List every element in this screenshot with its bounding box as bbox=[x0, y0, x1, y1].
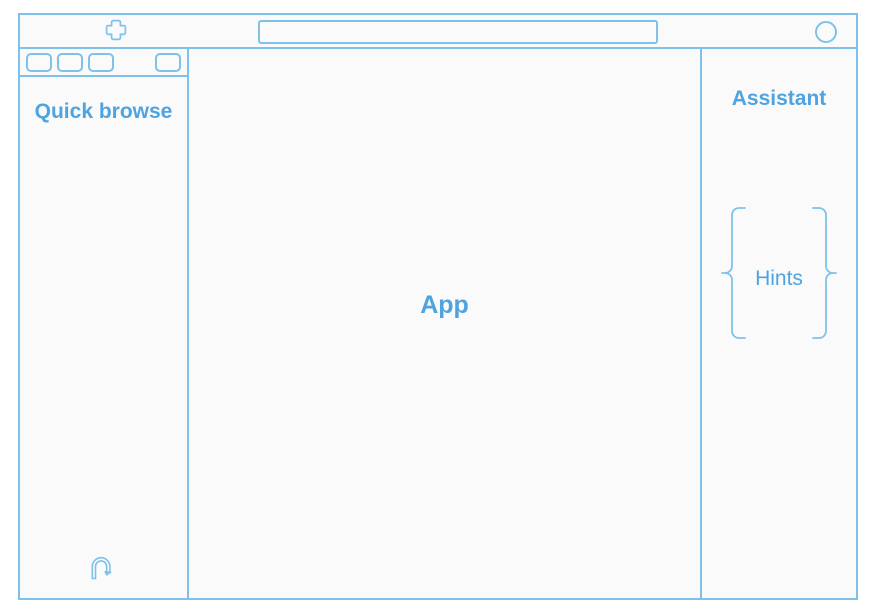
right-brace-icon bbox=[807, 205, 841, 352]
wireframe-canvas: Quick browse App bbox=[0, 0, 879, 616]
sidebar-toolbar-button-1[interactable] bbox=[26, 53, 52, 72]
hints-label: Hints bbox=[755, 267, 803, 291]
assistant-title: Assistant bbox=[732, 87, 827, 111]
sidebar-footer bbox=[20, 542, 187, 598]
sidebar-toolbar-button-3[interactable] bbox=[88, 53, 114, 72]
frame-body: Quick browse App bbox=[20, 49, 856, 598]
u-turn-arrow-icon[interactable] bbox=[88, 553, 118, 588]
sidebar-title: Quick browse bbox=[20, 99, 187, 126]
page-title: App bbox=[420, 291, 469, 320]
search-input[interactable] bbox=[258, 20, 658, 44]
main-app-panel: App bbox=[189, 49, 702, 598]
avatar[interactable] bbox=[815, 21, 837, 43]
sidebar: Quick browse bbox=[20, 49, 189, 598]
new-tab-button[interactable] bbox=[98, 19, 134, 45]
sidebar-toolbar-button-2[interactable] bbox=[57, 53, 83, 72]
application-window: Quick browse App bbox=[18, 13, 858, 600]
header-bar bbox=[20, 15, 856, 49]
left-brace-icon bbox=[717, 205, 751, 352]
sidebar-toolbar bbox=[20, 49, 187, 77]
sidebar-toolbar-button-4[interactable] bbox=[155, 53, 181, 72]
hints-block: Hints bbox=[717, 205, 841, 352]
plus-icon bbox=[104, 18, 128, 47]
assistant-panel: Assistant Hints bbox=[702, 49, 856, 598]
